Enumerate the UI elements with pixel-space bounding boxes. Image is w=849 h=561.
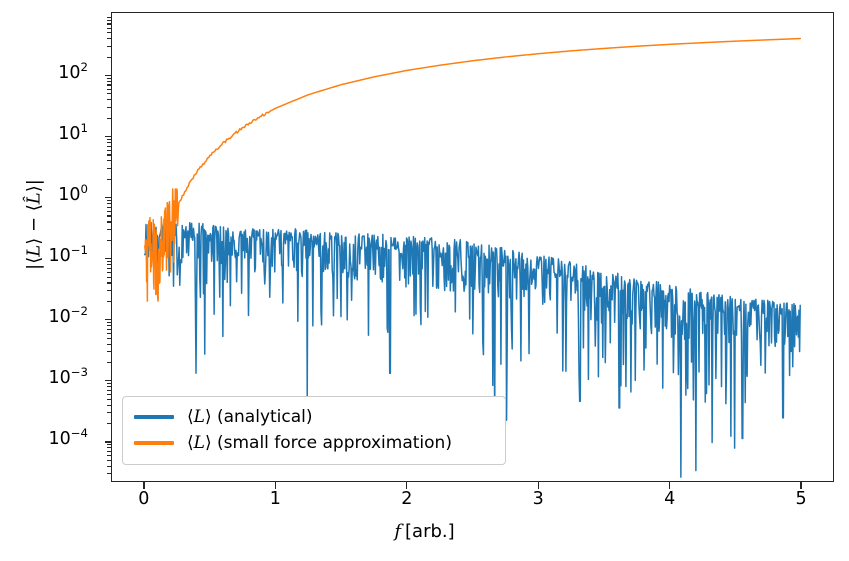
y-tick-minor bbox=[107, 322, 111, 323]
y-tick-minor bbox=[107, 329, 111, 330]
y-tick-minor bbox=[107, 17, 111, 18]
y-tick-minor bbox=[107, 160, 111, 161]
x-tick-major bbox=[669, 482, 670, 489]
y-tick-minor bbox=[107, 32, 111, 33]
legend[interactable]: ⟨L⟩ (analytical) ⟨L⟩ (small force approx… bbox=[122, 396, 506, 465]
y-tick-minor bbox=[107, 211, 111, 212]
y-tick-minor bbox=[107, 150, 111, 151]
y-tick-label: 100 bbox=[58, 187, 88, 205]
y-tick-minor bbox=[107, 154, 111, 155]
y-tick-major bbox=[105, 258, 112, 259]
y-tick-minor bbox=[107, 301, 111, 302]
y-axis-title-l1: L bbox=[24, 245, 45, 257]
y-tick-minor bbox=[107, 93, 111, 94]
y-tick-minor bbox=[107, 139, 111, 140]
y-tick-minor bbox=[107, 28, 111, 29]
y-tick-minor bbox=[107, 390, 111, 391]
legend-label-analytical: ⟨L⟩ (analytical) bbox=[187, 407, 313, 427]
y-tick-minor bbox=[107, 20, 111, 21]
y-tick-minor bbox=[107, 460, 111, 461]
y-tick-label: 10−1 bbox=[48, 248, 88, 266]
y-tick-major bbox=[105, 197, 112, 198]
y-tick-minor bbox=[107, 57, 111, 58]
figure-canvas: 10−410−310−210−1100101102 012345 f[arb.]… bbox=[0, 0, 849, 561]
y-tick-minor bbox=[107, 215, 111, 216]
x-tick-label: 1 bbox=[270, 491, 281, 509]
y-tick-minor bbox=[107, 386, 111, 387]
y-tick-minor bbox=[107, 146, 111, 147]
y-tick-minor bbox=[107, 455, 111, 456]
y-tick-minor bbox=[107, 277, 111, 278]
y-axis-title-mid: ⟩ − ⟨ bbox=[24, 204, 45, 245]
x-tick-label: 0 bbox=[138, 491, 149, 509]
y-tick-minor bbox=[107, 290, 111, 291]
y-tick-minor bbox=[107, 142, 111, 143]
y-tick-label: 10−2 bbox=[48, 309, 88, 327]
y-tick-minor bbox=[107, 325, 111, 326]
legend-item-analytical[interactable]: ⟨L⟩ (analytical) bbox=[134, 404, 494, 430]
y-tick-minor bbox=[107, 423, 111, 424]
y-tick-minor bbox=[107, 229, 111, 230]
x-axis-title: f[arb.] bbox=[0, 521, 849, 542]
x-axis-title-unit: [arb.] bbox=[405, 521, 455, 542]
y-tick-minor bbox=[107, 272, 111, 273]
y-tick-minor bbox=[107, 405, 111, 406]
y-tick-minor bbox=[107, 81, 111, 82]
y-tick-minor bbox=[107, 240, 111, 241]
y-tick-minor bbox=[107, 344, 111, 345]
x-tick-major bbox=[406, 482, 407, 489]
y-tick-major bbox=[105, 136, 112, 137]
y-tick-minor bbox=[107, 412, 111, 413]
x-tick-label: 2 bbox=[401, 491, 412, 509]
y-tick-minor bbox=[107, 179, 111, 180]
y-axis-title: |⟨L⟩ − ⟨L̂⟩| bbox=[24, 25, 45, 425]
y-tick-minor bbox=[107, 383, 111, 384]
y-tick-minor bbox=[107, 46, 111, 47]
y-tick-label: 10−4 bbox=[48, 431, 88, 449]
y-tick-minor bbox=[107, 99, 111, 100]
y-tick-minor bbox=[107, 221, 111, 222]
x-tick-major bbox=[143, 482, 144, 489]
legend-item-small-force-approximation[interactable]: ⟨L⟩ (small force approximation) bbox=[134, 430, 494, 456]
x-tick-label: 4 bbox=[664, 491, 675, 509]
x-tick-label: 3 bbox=[533, 491, 544, 509]
y-tick-minor bbox=[107, 351, 111, 352]
x-axis-title-symbol: f bbox=[394, 521, 401, 542]
x-tick-major bbox=[800, 482, 801, 489]
y-tick-minor bbox=[107, 394, 111, 395]
y-tick-minor bbox=[107, 107, 111, 108]
y-tick-minor bbox=[107, 78, 111, 79]
y-tick-minor bbox=[107, 399, 111, 400]
y-tick-minor bbox=[107, 168, 111, 169]
y-axis-title-l2: L̂ bbox=[24, 192, 45, 204]
y-tick-minor bbox=[107, 38, 111, 39]
y-tick-minor bbox=[107, 203, 111, 204]
y-tick-minor bbox=[107, 23, 111, 24]
x-tick-major bbox=[275, 482, 276, 489]
y-tick-minor bbox=[107, 451, 111, 452]
y-tick-major bbox=[105, 319, 112, 320]
y-axis-title-open: |⟨ bbox=[24, 257, 45, 270]
y-tick-minor bbox=[107, 282, 111, 283]
x-tick-major bbox=[538, 482, 539, 489]
y-tick-label: 101 bbox=[58, 126, 88, 144]
y-tick-minor bbox=[107, 200, 111, 201]
y-tick-minor bbox=[107, 338, 111, 339]
y-tick-minor bbox=[107, 118, 111, 119]
y-tick-major bbox=[105, 441, 112, 442]
y-tick-label: 102 bbox=[58, 65, 88, 83]
legend-swatch-analytical bbox=[134, 415, 174, 418]
y-tick-label: 10−3 bbox=[48, 370, 88, 388]
y-tick-minor bbox=[107, 264, 111, 265]
x-tick-label: 5 bbox=[796, 491, 807, 509]
y-tick-minor bbox=[107, 333, 111, 334]
y-tick-minor bbox=[107, 362, 111, 363]
legend-label-small-force-approximation: ⟨L⟩ (small force approximation) bbox=[187, 433, 452, 453]
y-tick-minor bbox=[107, 84, 111, 85]
y-tick-minor bbox=[107, 89, 111, 90]
y-tick-minor bbox=[107, 268, 111, 269]
y-tick-minor bbox=[107, 261, 111, 262]
y-axis-title-close: ⟩| bbox=[24, 179, 45, 192]
y-tick-minor bbox=[107, 207, 111, 208]
legend-swatch-small-force-approximation bbox=[134, 441, 174, 444]
y-tick-minor bbox=[107, 473, 111, 474]
y-tick-minor bbox=[107, 444, 111, 445]
y-tick-major bbox=[105, 380, 112, 381]
y-tick-minor bbox=[107, 447, 111, 448]
y-tick-major bbox=[105, 75, 112, 76]
y-tick-minor bbox=[107, 466, 111, 467]
